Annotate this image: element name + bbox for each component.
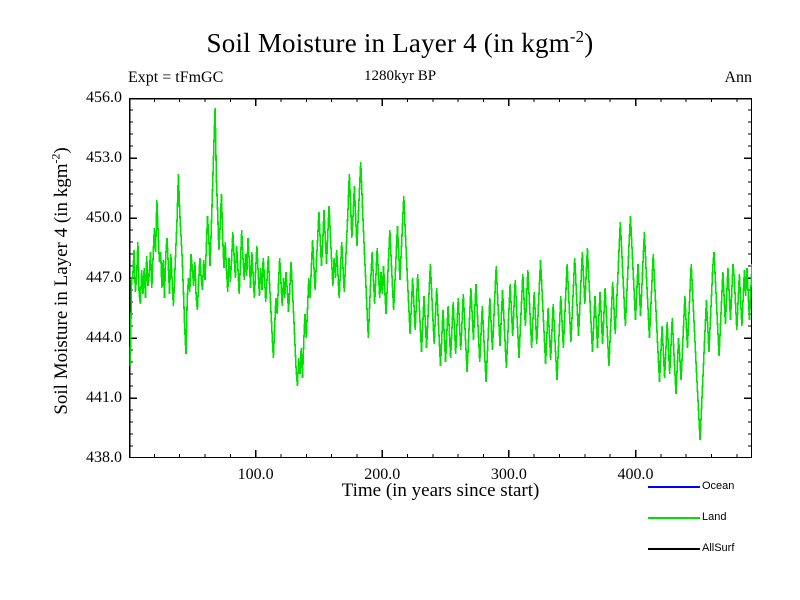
- chart-title-main: Soil Moisture in Layer 4 (in kgm: [207, 28, 570, 58]
- plot-svg: [129, 98, 752, 458]
- plot-frame: [130, 99, 752, 458]
- y-tick-label: 453.0: [52, 149, 122, 167]
- y-axis-tick-labels: 438.0441.0444.0447.0450.0453.0456.0: [47, 0, 122, 600]
- legend-swatch-allsurf: [648, 548, 700, 550]
- legend-item[interactable]: Land: [648, 511, 798, 525]
- chart-title-tail: ): [584, 28, 593, 58]
- x-tick-label: 200.0: [364, 466, 400, 484]
- legend-label: Ocean: [702, 480, 734, 492]
- period-label: Ann: [724, 69, 752, 87]
- y-tick-label: 450.0: [52, 209, 122, 227]
- legend-item[interactable]: Ocean: [648, 480, 798, 494]
- y-tick-label: 441.0: [52, 389, 122, 407]
- legend-swatch-land: [648, 517, 700, 519]
- series-line-land: [130, 108, 752, 440]
- y-tick-label: 447.0: [52, 269, 122, 287]
- figure-canvas: Soil Moisture in Layer 4 (in kgm-2) 1280…: [0, 0, 800, 600]
- y-tick-label: 438.0: [52, 449, 122, 467]
- legend-item[interactable]: AllSurf: [648, 542, 798, 556]
- chart-title-superscript: -2: [570, 27, 584, 46]
- legend: OceanLandAllSurf: [648, 480, 798, 570]
- legend-label: Land: [702, 511, 726, 523]
- x-tick-label: 300.0: [491, 466, 527, 484]
- x-tick-label: 100.0: [238, 466, 274, 484]
- y-tick-label: 456.0: [52, 89, 122, 107]
- legend-label: AllSurf: [702, 542, 734, 554]
- experiment-label: Expt = tFmGC: [128, 69, 223, 87]
- legend-swatch-ocean: [648, 486, 700, 488]
- plot-area: [129, 98, 752, 458]
- y-tick-label: 444.0: [52, 329, 122, 347]
